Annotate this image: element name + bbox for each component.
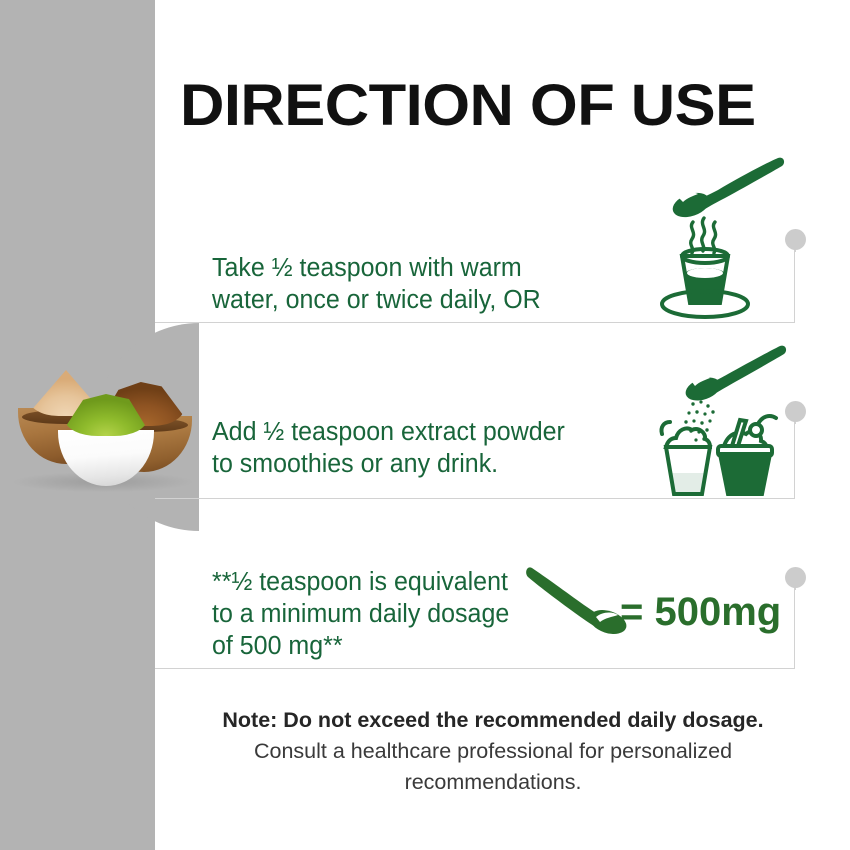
divider-1 [155,322,795,323]
infographic-canvas: DIRECTION OF USE Take ½ teaspoon with wa… [0,0,850,850]
dosage-note: Note: Do not exceed the recommended dail… [183,705,803,798]
dosage-equals-label: = 500mg [620,590,781,635]
step-1-text: Take ½ teaspoon with warm water, once or… [212,252,541,316]
divider-2 [155,498,795,499]
step-3-text: **½ teaspoon is equivalent to a minimum … [212,566,509,662]
spoon-sprinkling-into-smoothie-glasses-icon [658,342,794,502]
dosage-note-bold: Note: Do not exceed the recommended dail… [222,708,763,732]
divider-3 [155,668,795,669]
divider-1-riser [794,240,795,323]
divider-2-riser [794,412,795,499]
page-title: DIRECTION OF USE [180,72,756,139]
powder-bowls-image [8,368,200,498]
dosage-note-regular: Consult a healthcare professional for pe… [254,739,732,794]
step-2-text: Add ½ teaspoon extract powder to smoothi… [212,416,565,480]
pin-3-dot [785,567,806,588]
pin-1-dot [785,229,806,250]
spoon-over-glass-of-warm-water-icon [660,152,790,320]
pin-2-dot [785,401,806,422]
divider-3-riser [794,578,795,669]
